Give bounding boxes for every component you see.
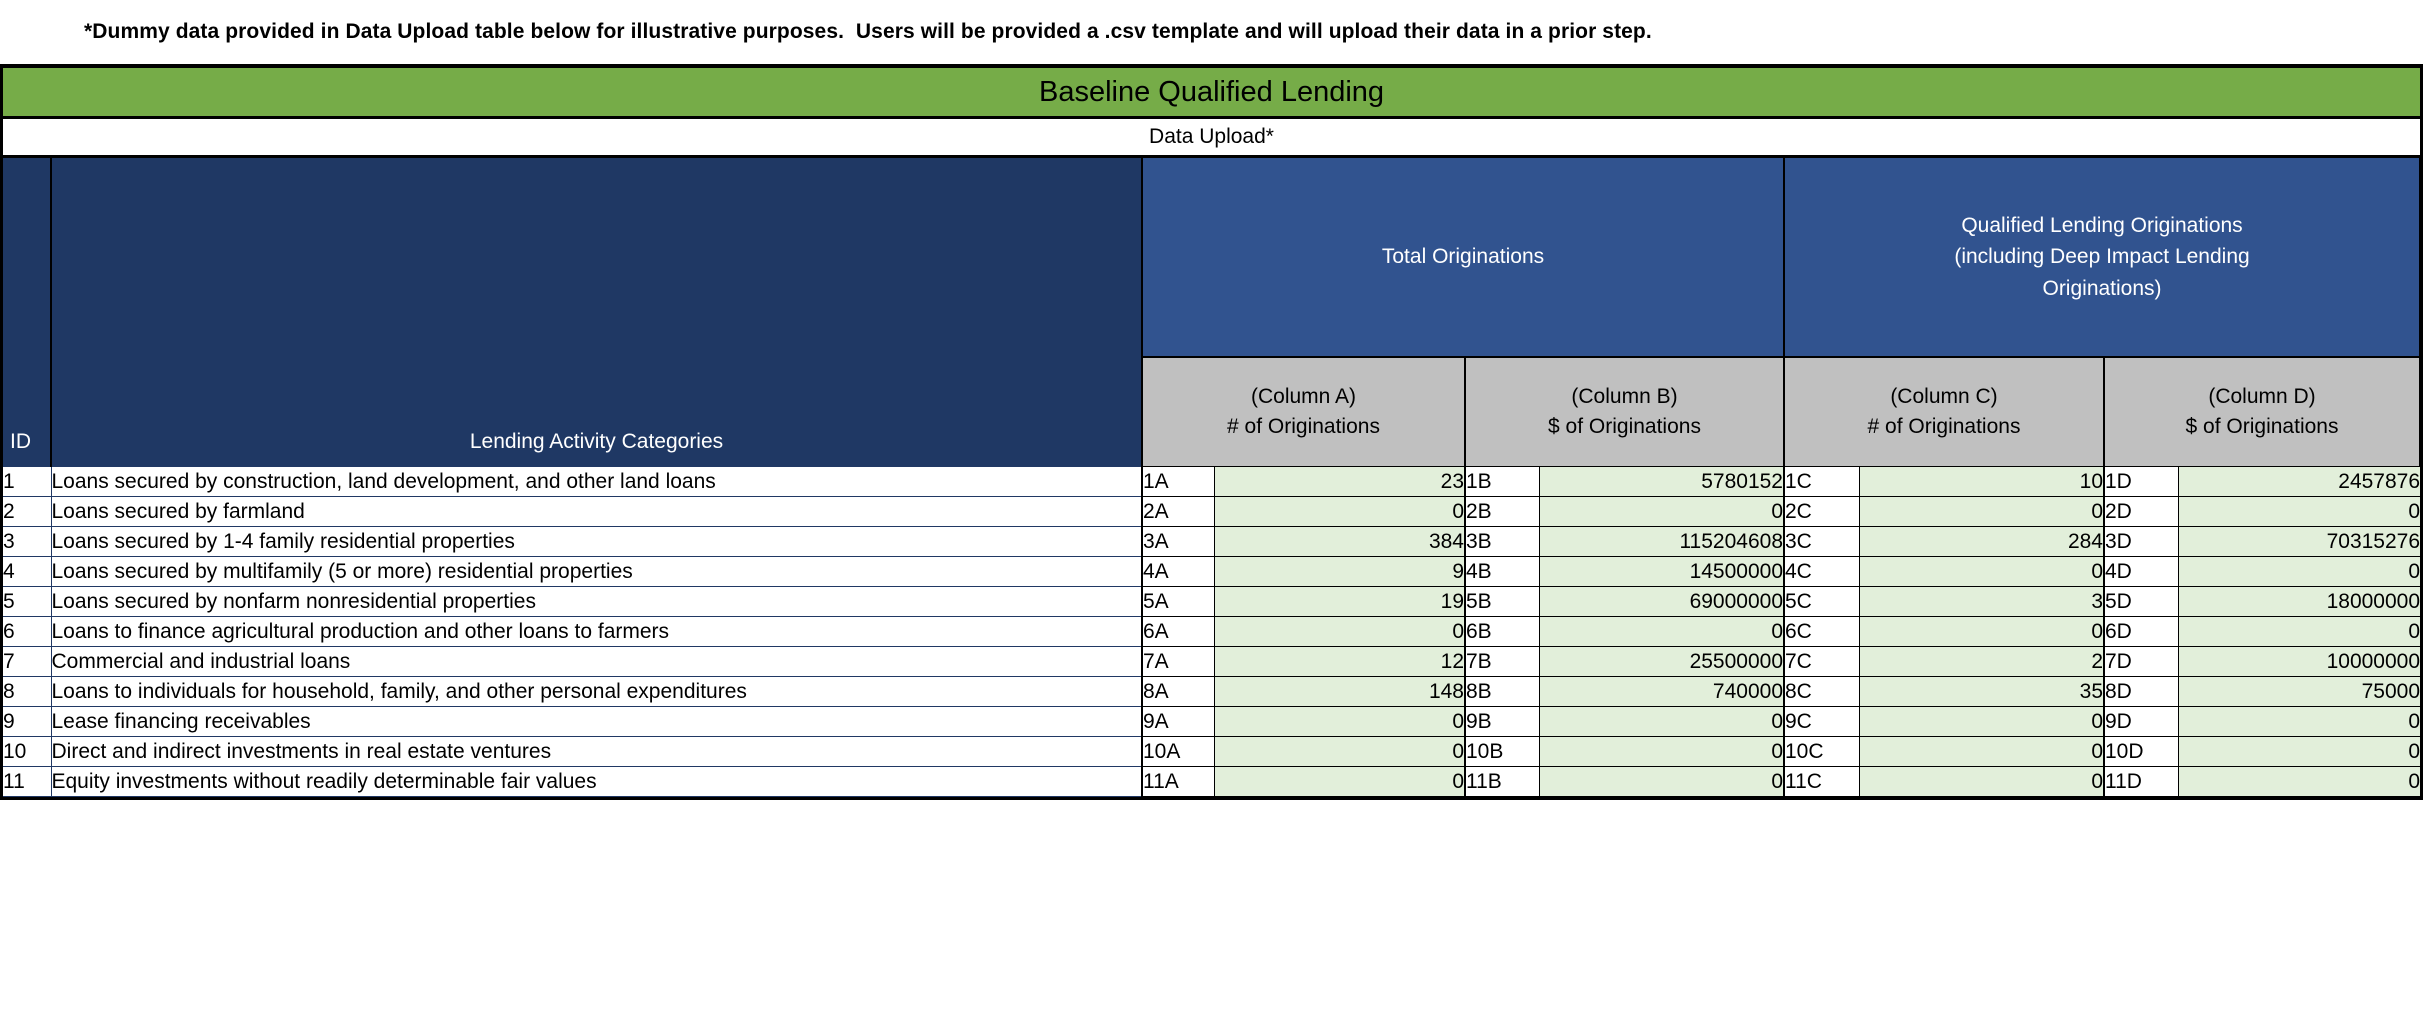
row-code-c: 6C [1784, 617, 1859, 647]
row-value-a[interactable]: 384 [1214, 527, 1465, 557]
header-id: ID [3, 157, 51, 467]
row-value-a[interactable]: 12 [1214, 647, 1465, 677]
row-code-c: 10C [1784, 737, 1859, 767]
row-code-c: 5C [1784, 587, 1859, 617]
row-code-d: 11D [2104, 767, 2178, 797]
row-id-cell: 6 [3, 617, 51, 647]
row-code-b: 3B [1465, 527, 1539, 557]
table-row: 1Loans secured by construction, land dev… [3, 467, 2420, 497]
table-row: 4Loans secured by multifamily (5 or more… [3, 557, 2420, 587]
row-code-b: 6B [1465, 617, 1539, 647]
row-id-cell: 2 [3, 497, 51, 527]
row-value-b[interactable]: 69000000 [1539, 587, 1784, 617]
row-value-c[interactable]: 0 [1859, 737, 2104, 767]
row-value-b[interactable]: 0 [1539, 617, 1784, 647]
row-code-d: 5D [2104, 587, 2178, 617]
row-value-b[interactable]: 14500000 [1539, 557, 1784, 587]
row-code-c: 4C [1784, 557, 1859, 587]
row-code-b: 10B [1465, 737, 1539, 767]
row-code-c: 1C [1784, 467, 1859, 497]
note-bar: *Dummy data provided in Data Upload tabl… [0, 0, 2423, 64]
row-value-d[interactable]: 0 [2178, 557, 2420, 587]
table-row: 5Loans secured by nonfarm nonresidential… [3, 587, 2420, 617]
row-value-a[interactable]: 0 [1214, 707, 1465, 737]
row-code-d: 9D [2104, 707, 2178, 737]
row-value-d[interactable]: 0 [2178, 497, 2420, 527]
row-value-b[interactable]: 0 [1539, 737, 1784, 767]
row-value-b[interactable]: 115204608 [1539, 527, 1784, 557]
row-value-a[interactable]: 19 [1214, 587, 1465, 617]
row-code-d: 3D [2104, 527, 2178, 557]
row-value-b[interactable]: 0 [1539, 767, 1784, 797]
subheader-column-a-desc: # of Originations [1143, 412, 1464, 442]
row-value-d[interactable]: 18000000 [2178, 587, 2420, 617]
row-code-c: 2C [1784, 497, 1859, 527]
row-value-c[interactable]: 0 [1859, 617, 2104, 647]
row-category-cell: Commercial and industrial loans [51, 647, 1142, 677]
subheader-column-d-desc: $ of Originations [2105, 412, 2419, 442]
header-group-qualified-line2: (including Deep Impact Lending [1954, 245, 2249, 268]
header-category: Lending Activity Categories [51, 157, 1142, 467]
row-code-d: 7D [2104, 647, 2178, 677]
row-value-d[interactable]: 70315276 [2178, 527, 2420, 557]
row-code-a: 1A [1142, 467, 1214, 497]
row-value-b[interactable]: 0 [1539, 707, 1784, 737]
header-group-qualified-line1: Qualified Lending Originations [1961, 214, 2242, 237]
row-code-b: 7B [1465, 647, 1539, 677]
row-code-a: 4A [1142, 557, 1214, 587]
subheader-column-c-desc: # of Originations [1785, 412, 2103, 442]
row-value-d[interactable]: 0 [2178, 707, 2420, 737]
row-code-c: 9C [1784, 707, 1859, 737]
row-value-d[interactable]: 0 [2178, 617, 2420, 647]
subheader-column-c-tag: (Column C) [1785, 382, 2103, 412]
subheader-column-b-tag: (Column B) [1466, 382, 1783, 412]
row-code-b: 5B [1465, 587, 1539, 617]
row-id-cell: 5 [3, 587, 51, 617]
row-value-c[interactable]: 35 [1859, 677, 2104, 707]
row-category-cell: Loans secured by farmland [51, 497, 1142, 527]
row-code-a: 10A [1142, 737, 1214, 767]
green-title-row: Baseline Qualified Lending [3, 68, 2420, 118]
row-code-d: 4D [2104, 557, 2178, 587]
row-value-c[interactable]: 2 [1859, 647, 2104, 677]
row-value-a[interactable]: 0 [1214, 497, 1465, 527]
header-group-total-label: Total Originations [1382, 245, 1544, 268]
row-id-cell: 4 [3, 557, 51, 587]
row-code-d: 6D [2104, 617, 2178, 647]
row-code-d: 10D [2104, 737, 2178, 767]
subheader-column-d: (Column D) $ of Originations [2104, 357, 2420, 466]
row-id-cell: 1 [3, 467, 51, 497]
row-value-a[interactable]: 0 [1214, 737, 1465, 767]
row-value-c[interactable]: 10 [1859, 467, 2104, 497]
table-row: 6Loans to finance agricultural productio… [3, 617, 2420, 647]
row-value-a[interactable]: 0 [1214, 617, 1465, 647]
row-value-b[interactable]: 25500000 [1539, 647, 1784, 677]
row-code-b: 2B [1465, 497, 1539, 527]
table-row: 7Commercial and industrial loans7A127B25… [3, 647, 2420, 677]
data-upload-subtitle: Data Upload* [3, 118, 2420, 157]
row-value-c[interactable]: 3 [1859, 587, 2104, 617]
row-category-cell: Lease financing receivables [51, 707, 1142, 737]
row-value-c[interactable]: 284 [1859, 527, 2104, 557]
header-group-qualified-originations: Qualified Lending Originations (includin… [1784, 157, 2420, 358]
row-code-c: 11C [1784, 767, 1859, 797]
row-code-a: 5A [1142, 587, 1214, 617]
row-value-d[interactable]: 10000000 [2178, 647, 2420, 677]
row-code-a: 11A [1142, 767, 1214, 797]
subheader-column-c: (Column C) # of Originations [1784, 357, 2104, 466]
row-value-d[interactable]: 75000 [2178, 677, 2420, 707]
row-value-c[interactable]: 0 [1859, 557, 2104, 587]
table-row: 8Loans to individuals for household, fam… [3, 677, 2420, 707]
row-id-cell: 10 [3, 737, 51, 767]
table-row: 9Lease financing receivables9A09B09C09D0 [3, 707, 2420, 737]
table-row: 11Equity investments without readily det… [3, 767, 2420, 797]
header-group-row: ID Lending Activity Categories Total Ori… [3, 157, 2420, 358]
row-code-a: 3A [1142, 527, 1214, 557]
row-code-a: 8A [1142, 677, 1214, 707]
subheader-column-b: (Column B) $ of Originations [1465, 357, 1784, 466]
row-value-b[interactable]: 0 [1539, 497, 1784, 527]
row-code-a: 9A [1142, 707, 1214, 737]
row-id-cell: 8 [3, 677, 51, 707]
subheader-column-b-desc: $ of Originations [1466, 412, 1783, 442]
row-code-b: 8B [1465, 677, 1539, 707]
row-category-cell: Loans to finance agricultural production… [51, 617, 1142, 647]
row-value-a[interactable]: 148 [1214, 677, 1465, 707]
row-id-cell: 9 [3, 707, 51, 737]
dummy-data-note: *Dummy data provided in Data Upload tabl… [84, 20, 1652, 44]
table-row: 3Loans secured by 1-4 family residential… [3, 527, 2420, 557]
row-code-d: 1D [2104, 467, 2178, 497]
row-value-c[interactable]: 0 [1859, 707, 2104, 737]
row-code-c: 3C [1784, 527, 1859, 557]
row-value-a[interactable]: 9 [1214, 557, 1465, 587]
row-code-a: 2A [1142, 497, 1214, 527]
row-id-cell: 11 [3, 767, 51, 797]
sheet-title: Baseline Qualified Lending [3, 68, 2420, 118]
row-code-b: 11B [1465, 767, 1539, 797]
row-code-d: 8D [2104, 677, 2178, 707]
subheader-column-d-tag: (Column D) [2105, 382, 2419, 412]
row-value-b[interactable]: 5780152 [1539, 467, 1784, 497]
row-code-b: 1B [1465, 467, 1539, 497]
table-row: 2Loans secured by farmland2A02B02C02D0 [3, 497, 2420, 527]
row-code-a: 6A [1142, 617, 1214, 647]
row-code-b: 4B [1465, 557, 1539, 587]
row-value-b[interactable]: 740000 [1539, 677, 1784, 707]
row-code-d: 2D [2104, 497, 2178, 527]
row-code-a: 7A [1142, 647, 1214, 677]
baseline-qualified-lending-sheet: Baseline Qualified Lending Data Upload* … [0, 64, 2423, 800]
row-id-cell: 3 [3, 527, 51, 557]
subtitle-row: Data Upload* [3, 118, 2420, 157]
table-body: 1Loans secured by construction, land dev… [3, 467, 2420, 797]
row-value-a[interactable]: 0 [1214, 767, 1465, 797]
row-category-cell: Loans to individuals for household, fami… [51, 677, 1142, 707]
row-category-cell: Loans secured by nonfarm nonresidential … [51, 587, 1142, 617]
header-group-total-originations: Total Originations [1142, 157, 1784, 358]
row-category-cell: Loans secured by 1-4 family residential … [51, 527, 1142, 557]
row-value-d[interactable]: 2457876 [2178, 467, 2420, 497]
row-id-cell: 7 [3, 647, 51, 677]
lending-table: Baseline Qualified Lending Data Upload* … [3, 68, 2421, 797]
row-code-c: 7C [1784, 647, 1859, 677]
row-value-a[interactable]: 23 [1214, 467, 1465, 497]
row-category-cell: Loans secured by multifamily (5 or more)… [51, 557, 1142, 587]
row-value-c[interactable]: 0 [1859, 497, 2104, 527]
table-row: 10Direct and indirect investments in rea… [3, 737, 2420, 767]
row-code-b: 9B [1465, 707, 1539, 737]
row-category-cell: Direct and indirect investments in real … [51, 737, 1142, 767]
subheader-column-a: (Column A) # of Originations [1142, 357, 1465, 466]
row-category-cell: Equity investments without readily deter… [51, 767, 1142, 797]
header-group-qualified-line3: Originations) [2042, 277, 2161, 300]
row-category-cell: Loans secured by construction, land deve… [51, 467, 1142, 497]
row-value-d[interactable]: 0 [2178, 767, 2420, 797]
row-value-d[interactable]: 0 [2178, 737, 2420, 767]
row-code-c: 8C [1784, 677, 1859, 707]
subheader-column-a-tag: (Column A) [1143, 382, 1464, 412]
row-value-c[interactable]: 0 [1859, 767, 2104, 797]
